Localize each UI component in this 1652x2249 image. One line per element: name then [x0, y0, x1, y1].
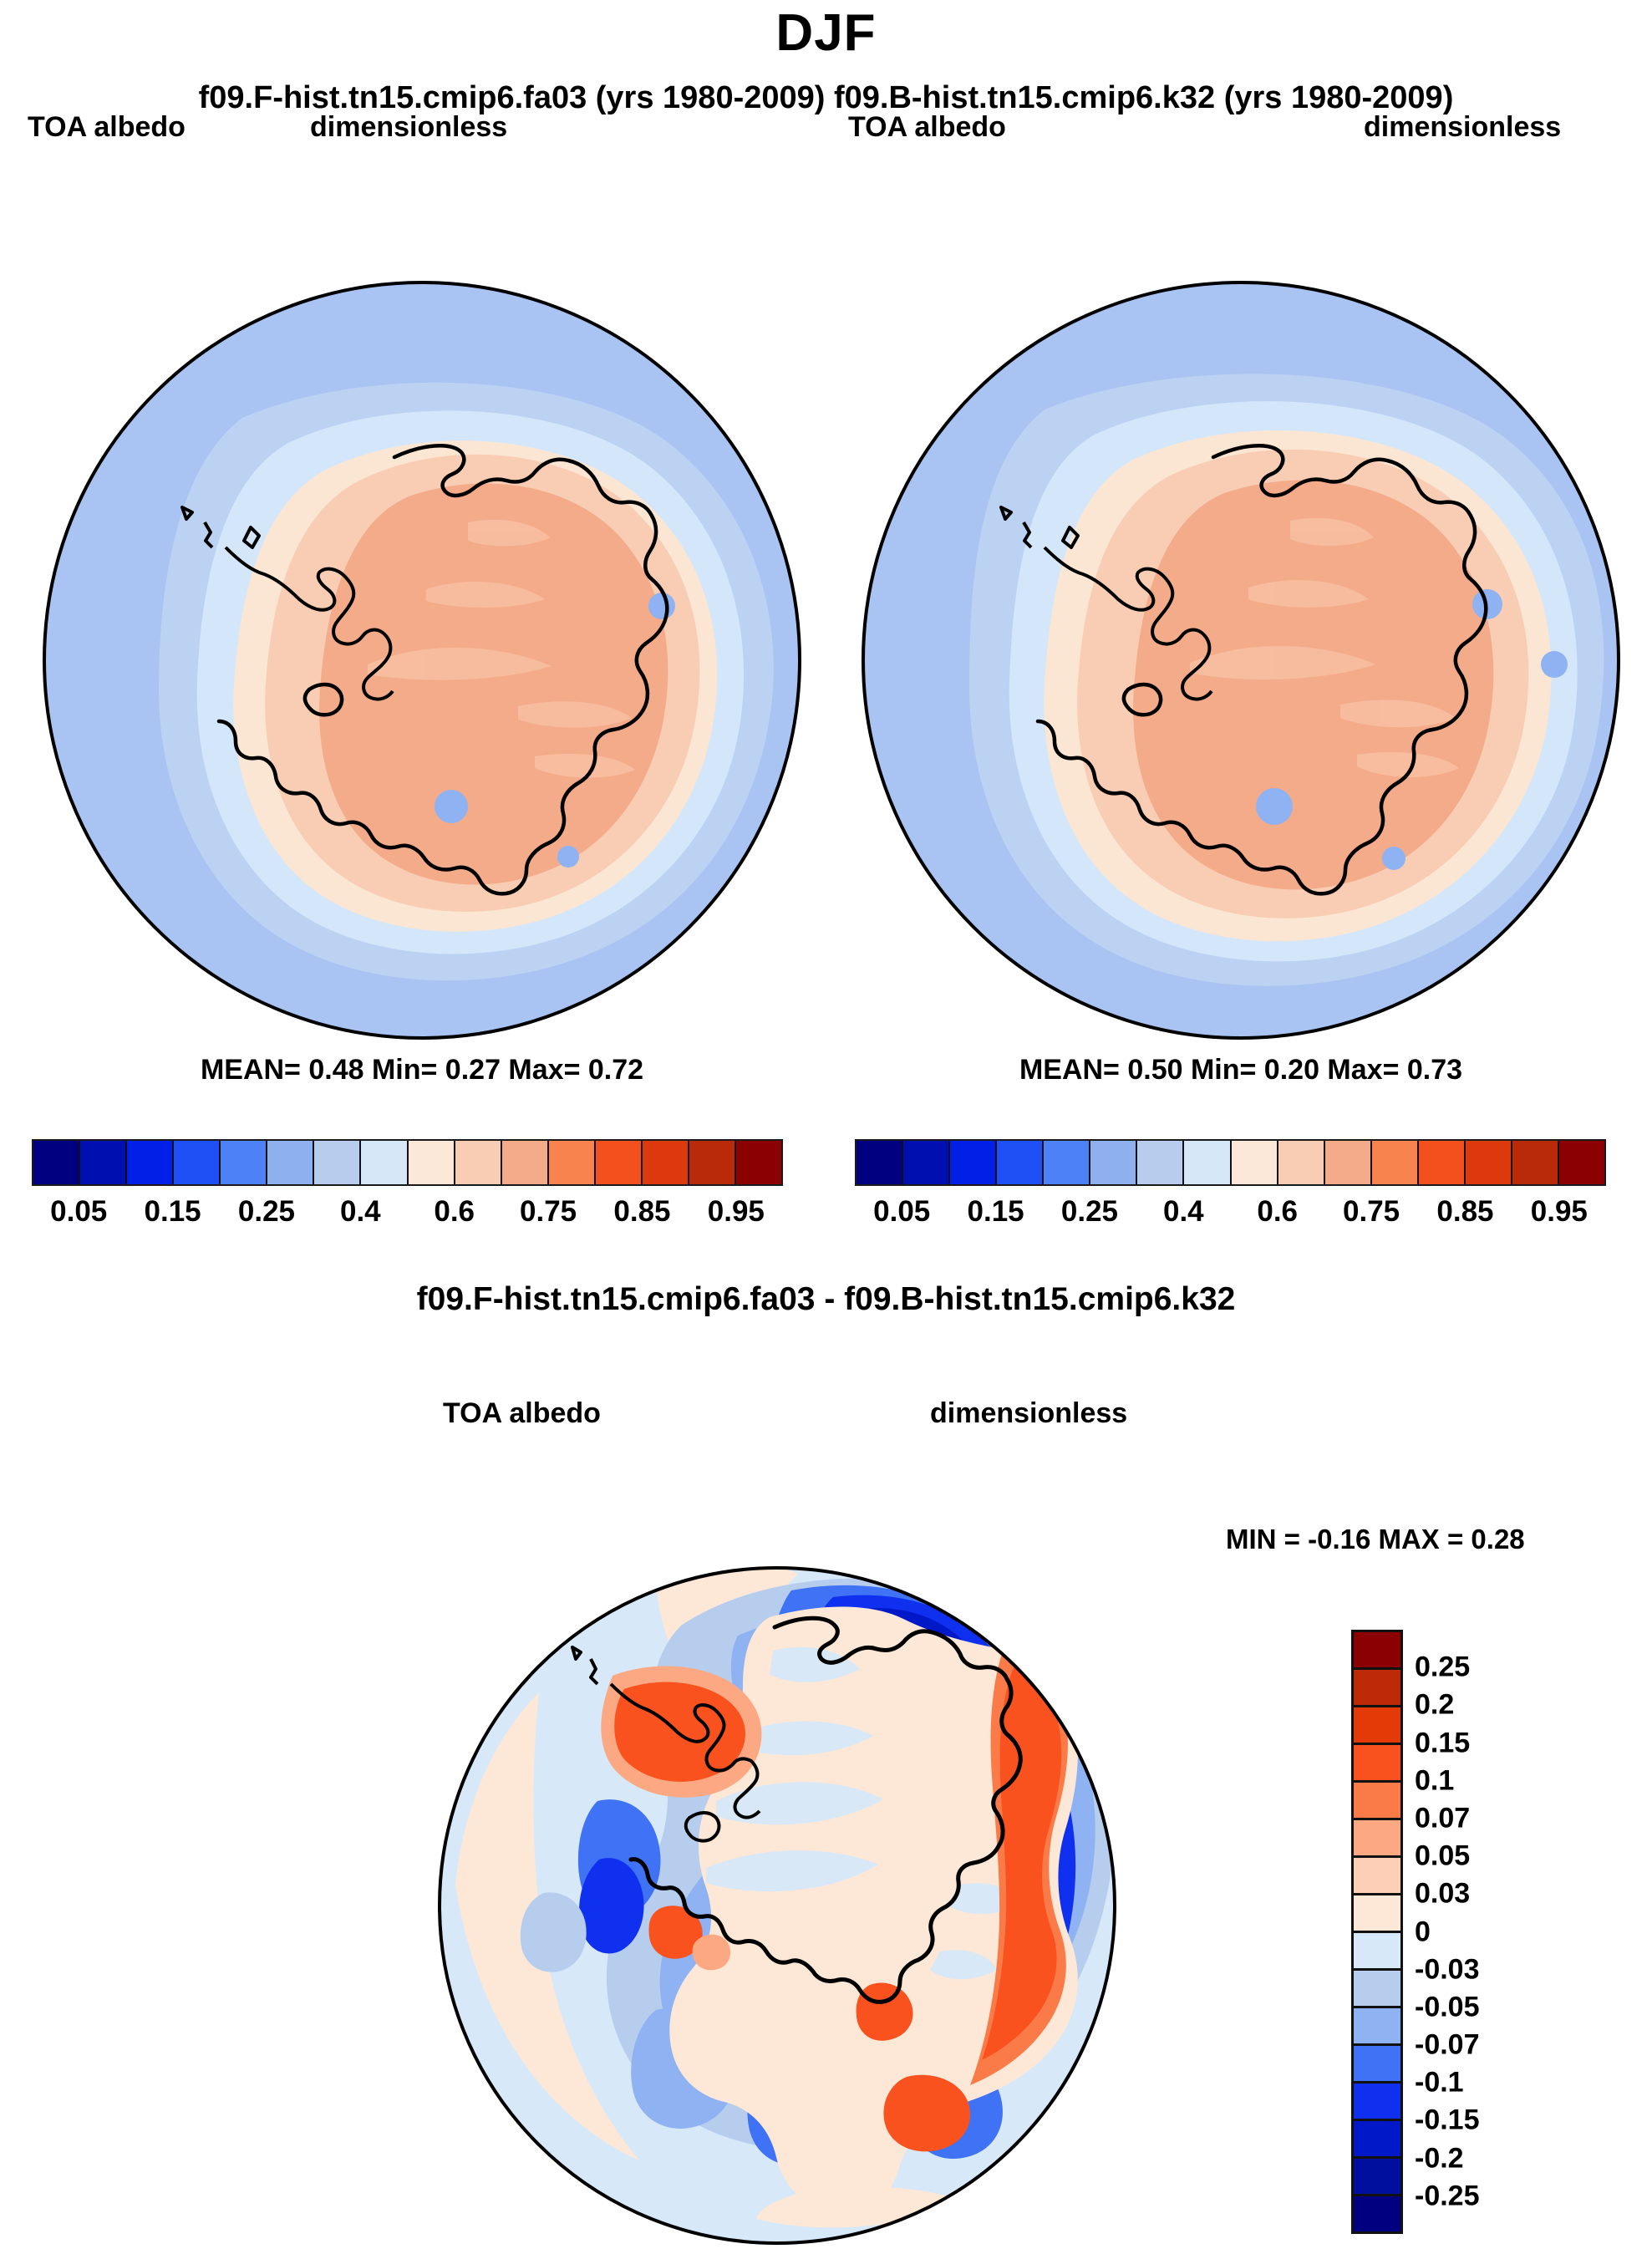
panel-left-variable-label: TOA albedo — [28, 111, 186, 144]
map-left-svg — [33, 272, 811, 1049]
panel-right-variable-label: TOA albedo — [848, 111, 1006, 144]
diff-colorbar-cell-14 — [1354, 2159, 1400, 2196]
diff-colorbar-tick-0: 0 — [1415, 1916, 1431, 1948]
colorbar-cell-3 — [174, 1141, 221, 1184]
colorbar-tick-0.25: 0.25 — [238, 1195, 295, 1229]
colorbar-tick-0.25: 0.25 — [1061, 1195, 1118, 1229]
colorbar-tick-0.85: 0.85 — [613, 1195, 670, 1229]
diff-colorbar-tick--0.2: -0.2 — [1415, 2142, 1464, 2175]
colorbar-tick-0.75: 0.75 — [520, 1195, 577, 1229]
figure-title: DJF — [0, 3, 1652, 63]
colorbar-tick-0.05: 0.05 — [50, 1195, 107, 1229]
colorbar-tick-0.6: 0.6 — [434, 1195, 475, 1229]
colorbar-cell-12 — [596, 1141, 643, 1184]
diff-colorbar-tick-0.25: 0.25 — [1415, 1651, 1470, 1684]
colorbar-cell-5 — [1090, 1141, 1137, 1184]
map-right-svg — [852, 272, 1629, 1049]
colorbar-cell-12 — [1419, 1141, 1466, 1184]
colorbar-cell-3 — [997, 1141, 1044, 1184]
panel-left-units-label: dimensionless — [310, 111, 507, 144]
difference-colorbar[interactable] — [1351, 1630, 1403, 2234]
albedo-colorbar-right[interactable] — [855, 1139, 1606, 1186]
diff-colorbar-cell-4 — [1354, 1783, 1400, 1820]
colorbar-tick-0.4: 0.4 — [340, 1195, 381, 1229]
colorbar-cell-6 — [314, 1141, 361, 1184]
colorbar-cell-15 — [736, 1141, 781, 1184]
colorbar-tick-0.05: 0.05 — [873, 1195, 930, 1229]
colorbar-cell-11 — [549, 1141, 596, 1184]
colorbar-tick-0.6: 0.6 — [1257, 1195, 1298, 1229]
diff-colorbar-cell-8 — [1354, 1933, 1400, 1971]
colorbar-cell-1 — [903, 1141, 950, 1184]
colorbar-cell-2 — [950, 1141, 997, 1184]
panel-right-units-label: dimensionless — [1364, 111, 1561, 144]
difference-colorbar-ticks: 0.250.20.150.10.070.050.030-0.03-0.05-0.… — [1415, 1630, 1624, 2234]
colorbar-cell-1 — [80, 1141, 127, 1184]
colorbar-tick-0.4: 0.4 — [1163, 1195, 1204, 1229]
colorbar-cell-4 — [221, 1141, 267, 1184]
diff-colorbar-cell-15 — [1354, 2196, 1400, 2231]
diff-colorbar-cell-1 — [1354, 1670, 1400, 1707]
albedo-colorbar-left[interactable] — [32, 1139, 783, 1186]
diff-colorbar-tick--0.25: -0.25 — [1415, 2180, 1480, 2212]
colorbar-cell-13 — [1466, 1141, 1512, 1184]
diff-colorbar-cell-11 — [1354, 2046, 1400, 2084]
colorbar-cell-2 — [127, 1141, 174, 1184]
colorbar-cell-0 — [33, 1141, 80, 1184]
colorbar-cell-8 — [1232, 1141, 1278, 1184]
map-panel-right[interactable] — [852, 272, 1629, 1049]
difference-panel-title: f09.F-hist.tn15.cmip6.fa03 - f09.B-hist.… — [0, 1281, 1652, 1318]
albedo-colorbar-right-ticks: 0.050.150.250.40.60.750.850.95 — [855, 1195, 1606, 1234]
panel-diff-variable-label: TOA albedo — [443, 1397, 601, 1430]
albedo-colorbar-left-ticks: 0.050.150.250.40.60.750.850.95 — [32, 1195, 783, 1234]
diff-colorbar-cell-6 — [1354, 1858, 1400, 1895]
colorbar-cell-11 — [1372, 1141, 1419, 1184]
panel-right-stats: MEAN= 0.50 Min= 0.20 Max= 0.73 — [852, 1054, 1629, 1086]
diff-colorbar-cell-2 — [1354, 1707, 1400, 1745]
panel-diff-minmax: MIN = -0.16 MAX = 0.28 — [1226, 1524, 1525, 1555]
diff-colorbar-tick-0.05: 0.05 — [1415, 1840, 1470, 1873]
colorbar-cell-9 — [455, 1141, 502, 1184]
diff-colorbar-cell-10 — [1354, 2008, 1400, 2046]
map-panel-difference[interactable] — [405, 1525, 1149, 2249]
diff-colorbar-tick--0.07: -0.07 — [1415, 2029, 1480, 2062]
colorbar-tick-0.15: 0.15 — [145, 1195, 201, 1229]
colorbar-cell-10 — [502, 1141, 549, 1184]
colorbar-tick-0.75: 0.75 — [1343, 1195, 1400, 1229]
diff-colorbar-tick-0.2: 0.2 — [1415, 1689, 1454, 1722]
diff-colorbar-tick-0.03: 0.03 — [1415, 1878, 1470, 1911]
colorbar-cell-8 — [409, 1141, 455, 1184]
colorbar-tick-0.85: 0.85 — [1436, 1195, 1493, 1229]
colorbar-cell-13 — [643, 1141, 689, 1184]
diff-colorbar-cell-5 — [1354, 1820, 1400, 1858]
colorbar-cell-0 — [856, 1141, 903, 1184]
map-diff-svg — [405, 1525, 1149, 2249]
diff-colorbar-tick-0.15: 0.15 — [1415, 1727, 1470, 1759]
panel-diff-units-label: dimensionless — [930, 1397, 1127, 1430]
colorbar-cell-4 — [1044, 1141, 1090, 1184]
colorbar-cell-6 — [1137, 1141, 1184, 1184]
diff-colorbar-cell-7 — [1354, 1895, 1400, 1933]
diff-colorbar-tick--0.03: -0.03 — [1415, 1953, 1480, 1986]
colorbar-cell-7 — [1184, 1141, 1231, 1184]
colorbar-tick-0.95: 0.95 — [708, 1195, 765, 1229]
colorbar-cell-14 — [1512, 1141, 1559, 1184]
colorbar-cell-7 — [361, 1141, 408, 1184]
diff-colorbar-cell-0 — [1354, 1632, 1400, 1670]
colorbar-cell-14 — [689, 1141, 736, 1184]
diff-colorbar-tick--0.1: -0.1 — [1415, 2067, 1464, 2099]
diff-colorbar-cell-3 — [1354, 1745, 1400, 1783]
diff-colorbar-cell-13 — [1354, 2121, 1400, 2159]
diff-colorbar-tick-0.1: 0.1 — [1415, 1764, 1454, 1797]
colorbar-cell-9 — [1278, 1141, 1325, 1184]
diff-colorbar-tick-0.07: 0.07 — [1415, 1802, 1470, 1834]
diff-colorbar-cell-9 — [1354, 1971, 1400, 2008]
diff-colorbar-tick--0.05: -0.05 — [1415, 1991, 1480, 2023]
colorbar-cell-5 — [267, 1141, 314, 1184]
colorbar-cell-15 — [1559, 1141, 1604, 1184]
diff-colorbar-tick--0.15: -0.15 — [1415, 2104, 1480, 2137]
diff-colorbar-cell-12 — [1354, 2084, 1400, 2121]
colorbar-tick-0.15: 0.15 — [968, 1195, 1024, 1229]
colorbar-tick-0.95: 0.95 — [1531, 1195, 1588, 1229]
colorbar-cell-10 — [1325, 1141, 1372, 1184]
map-panel-left[interactable] — [33, 272, 811, 1049]
panel-left-stats: MEAN= 0.48 Min= 0.27 Max= 0.72 — [33, 1054, 811, 1086]
